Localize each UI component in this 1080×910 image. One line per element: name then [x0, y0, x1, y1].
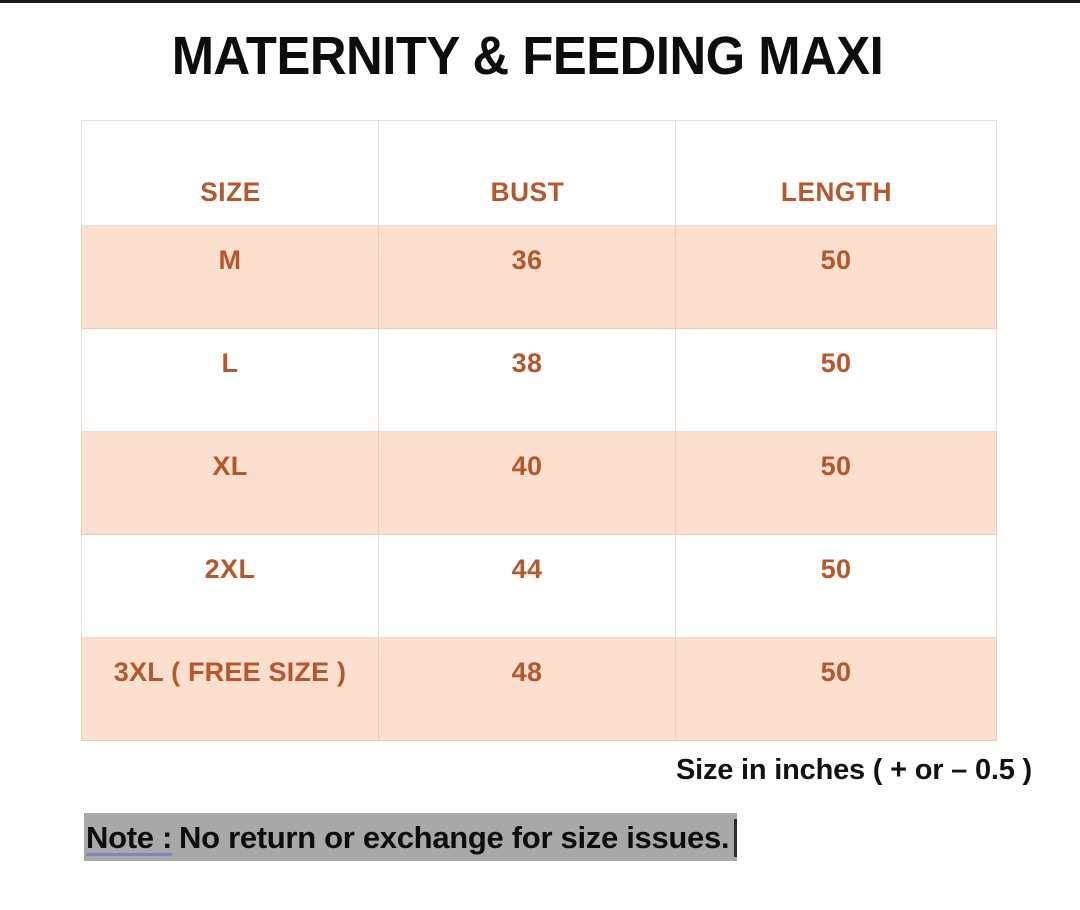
cell-bust: 48: [379, 638, 676, 741]
units-note: Size in inches ( + or – 0.5 ): [676, 752, 1032, 788]
cell-length: 50: [676, 226, 997, 329]
cell-length: 50: [676, 638, 997, 741]
table-row: XL 40 50: [82, 432, 997, 535]
column-header-bust: BUST: [383, 121, 671, 226]
table-header: SIZE BUST LENGTH: [82, 121, 997, 226]
cell-bust: 36: [379, 226, 676, 329]
cell-bust: 44: [379, 535, 676, 638]
top-edge-rule: [0, 0, 1080, 3]
cell-length: 50: [676, 329, 997, 432]
cell-bust: 38: [379, 329, 676, 432]
cell-length: 50: [676, 535, 997, 638]
cell-size: 3XL ( FREE SIZE ): [82, 638, 379, 741]
column-header-length: LENGTH: [680, 121, 991, 226]
cell-size: M: [82, 226, 379, 329]
cell-size: XL: [82, 432, 379, 535]
cell-length: 50: [676, 432, 997, 535]
table-row: 3XL ( FREE SIZE ) 48 50: [82, 638, 997, 741]
table-header-row: SIZE BUST LENGTH: [82, 121, 997, 226]
table-row: 2XL 44 50: [82, 535, 997, 638]
table-body: M 36 50 L 38 50 XL 40 50 2XL 44 50 3XL (…: [82, 226, 997, 741]
table-row: M 36 50: [82, 226, 997, 329]
table-row: L 38 50: [82, 329, 997, 432]
note-line[interactable]: Note : No return or exchange for size is…: [84, 813, 737, 861]
cell-size: 2XL: [82, 535, 379, 638]
note-text: No return or exchange for size issues.: [179, 820, 729, 856]
cell-size: L: [82, 329, 379, 432]
text-caret: [734, 819, 737, 857]
note-label: Note :: [86, 820, 179, 856]
size-chart-table: SIZE BUST LENGTH M 36 50 L 38 50 XL 40 5…: [81, 120, 997, 741]
cell-bust: 40: [379, 432, 676, 535]
column-header-size: SIZE: [86, 121, 374, 226]
page-title: MATERNITY & FEEDING MAXI: [32, 24, 1024, 88]
